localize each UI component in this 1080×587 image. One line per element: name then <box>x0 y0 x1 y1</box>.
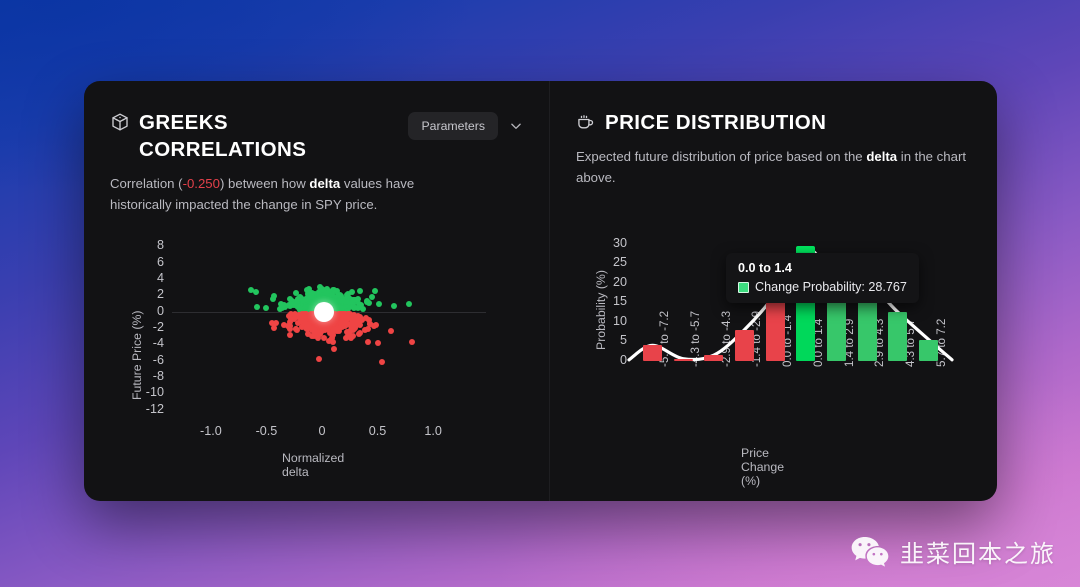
scatter-point <box>365 326 371 332</box>
scatter-y-tick: 2 <box>136 287 164 301</box>
distribution-bar[interactable] <box>919 340 938 361</box>
price-panel-header: PRICE DISTRIBUTION Expected future distr… <box>576 109 971 189</box>
scatter-point <box>365 339 371 345</box>
correlation-value: -0.250 <box>183 176 220 191</box>
scatter-point <box>315 335 321 341</box>
scatter-point <box>300 298 306 304</box>
scatter-y-tick: -12 <box>136 402 164 416</box>
scatter-x-tick: -0.5 <box>246 424 286 438</box>
scatter-point <box>285 323 291 329</box>
scatter-point <box>379 359 385 365</box>
watermark-text: 韭菜回本之旅 <box>900 534 1056 569</box>
scatter-y-tick: 0 <box>136 304 164 318</box>
scatter-point <box>288 311 294 317</box>
greeks-desc-bold: delta <box>309 176 340 191</box>
scatter-point <box>263 305 269 311</box>
scatter-y-tick: -8 <box>136 369 164 383</box>
price-panel-description: Expected future distribution of price ba… <box>576 146 971 189</box>
scatter-x-tick: 1.0 <box>413 424 453 438</box>
scatter-x-axis-title: Normalized delta <box>282 451 344 479</box>
scatter-point <box>303 304 309 310</box>
scatter-point <box>299 324 305 330</box>
price-panel-title: PRICE DISTRIBUTION <box>605 109 826 136</box>
chevron-down-icon[interactable] <box>509 119 523 133</box>
bar-highlight-cap <box>796 246 815 252</box>
scatter-point <box>308 299 314 305</box>
bars-y-tick: 30 <box>601 236 627 250</box>
bars-y-tick: 5 <box>601 333 627 347</box>
scatter-point <box>334 326 340 332</box>
greeks-panel-title: GREEKS CORRELATIONS <box>139 109 399 163</box>
scatter-x-tick: 0 <box>302 424 342 438</box>
scatter-x-tick: -1.0 <box>191 424 231 438</box>
scatter-point <box>357 288 363 294</box>
scatter-highlight-point[interactable] <box>314 302 334 322</box>
scatter-point <box>287 332 293 338</box>
cube-icon <box>110 112 130 132</box>
scatter-point <box>349 289 355 295</box>
scatter-y-tick: -2 <box>136 320 164 334</box>
scatter-y-tick: -10 <box>136 385 164 399</box>
scatter-point <box>271 325 277 331</box>
scatter-point <box>350 333 356 339</box>
bars-y-tick: 20 <box>601 275 627 289</box>
scatter-point <box>376 301 382 307</box>
scatter-point <box>345 333 351 339</box>
scatter-point <box>351 297 357 303</box>
greeks-panel-header: GREEKS CORRELATIONS Correlation (-0.250)… <box>110 109 523 216</box>
bar-tooltip: 0.0 to 1.4 Change Probability: 28.767 <box>726 253 919 303</box>
tooltip-color-swatch <box>738 282 749 293</box>
greeks-panel-description: Correlation (-0.250) between how delta v… <box>110 173 462 216</box>
scatter-point <box>254 304 260 310</box>
scatter-y-tick: -6 <box>136 353 164 367</box>
scatter-point <box>339 320 345 326</box>
scatter-point <box>340 312 346 318</box>
scatter-point <box>331 346 337 352</box>
scatter-point <box>295 296 301 302</box>
scatter-point <box>375 340 381 346</box>
scatter-point <box>295 304 301 310</box>
parameters-button[interactable]: Parameters <box>408 112 498 140</box>
scatter-y-tick: 6 <box>136 255 164 269</box>
greeks-desc-suffix: ) between how <box>220 176 309 191</box>
price-title-row: PRICE DISTRIBUTION <box>576 109 971 136</box>
wechat-icon <box>850 535 890 569</box>
scatter-point <box>351 305 357 311</box>
scatter-point <box>316 356 322 362</box>
scatter-point <box>409 339 415 345</box>
scatter-point <box>388 328 394 334</box>
scatter-point <box>248 287 254 293</box>
scatter-y-tick: 4 <box>136 271 164 285</box>
scatter-x-tick: 0.5 <box>358 424 398 438</box>
tooltip-title: 0.0 to 1.4 <box>738 261 907 275</box>
scatter-point <box>391 303 397 309</box>
tooltip-row: Change Probability: 28.767 <box>738 280 907 294</box>
bars-y-tick: 25 <box>601 255 627 269</box>
scatter-point <box>371 323 377 329</box>
scatter-point <box>372 288 378 294</box>
distribution-bar[interactable] <box>704 355 723 361</box>
scatter-y-tick: 8 <box>136 238 164 252</box>
scatter-point <box>406 301 412 307</box>
bars-y-tick: 10 <box>601 314 627 328</box>
distribution-bar[interactable] <box>674 359 693 361</box>
distribution-bar[interactable] <box>643 345 662 361</box>
scatter-point <box>269 320 275 326</box>
scatter-point <box>369 294 375 300</box>
bars-y-tick: 0 <box>601 353 627 367</box>
scatter-point <box>289 301 295 307</box>
coffee-cup-icon <box>576 112 596 132</box>
price-desc-prefix: Expected future distribution of price ba… <box>576 149 866 164</box>
bars-x-axis-title: Price Change (%) <box>741 446 784 488</box>
distribution-bar[interactable] <box>888 312 907 361</box>
scatter-y-tick: -4 <box>136 336 164 350</box>
scatter-point <box>270 296 276 302</box>
bars-y-tick: 15 <box>601 294 627 308</box>
price-desc-bold: delta <box>866 149 897 164</box>
scatter-point <box>329 292 335 298</box>
scatter-plot-area[interactable] <box>172 238 472 418</box>
greeks-desc-prefix: Correlation ( <box>110 176 183 191</box>
tooltip-value-text: Change Probability: 28.767 <box>755 280 907 294</box>
watermark: 韭菜回本之旅 <box>850 534 1056 569</box>
distribution-bar[interactable] <box>766 295 785 361</box>
parameters-control: Parameters <box>408 112 523 140</box>
distribution-bar[interactable] <box>735 330 754 361</box>
